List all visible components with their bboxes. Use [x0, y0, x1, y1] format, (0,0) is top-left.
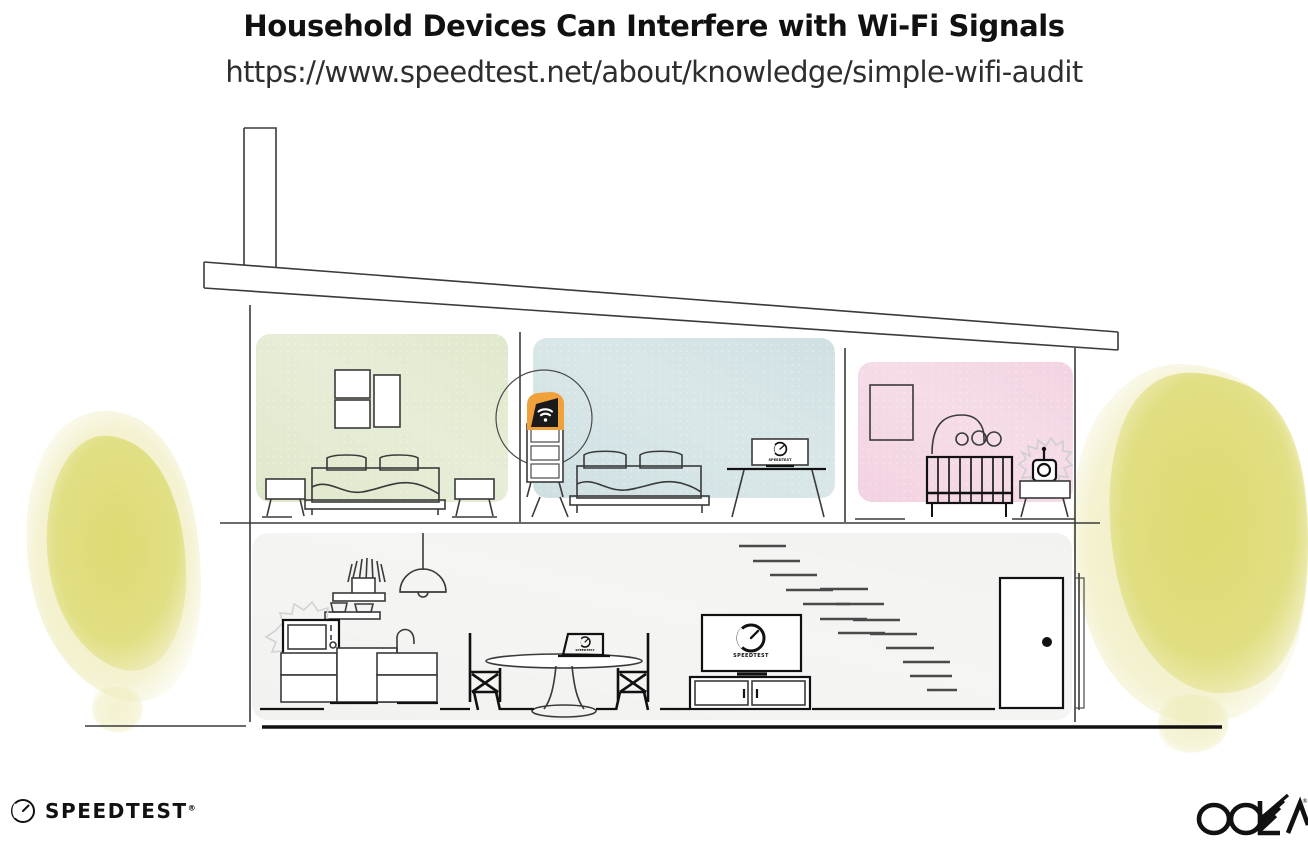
ookla-wordmark: ®: [1196, 793, 1308, 845]
room-ground-floor: SPEEDTEST SPEEDTEST: [252, 533, 1084, 720]
foliage-left: [26, 411, 201, 733]
monitor[interactable]: SPEEDTEST: [752, 439, 808, 466]
chimney: [244, 128, 276, 278]
door-knob[interactable]: [1042, 637, 1052, 647]
ookla-logo: ®: [1196, 793, 1308, 850]
kitchen-counter: [281, 648, 438, 703]
speedtest-label: SPEEDTEST: [45, 799, 188, 823]
nightstand-right: [455, 479, 494, 516]
room-nursery-pink: [855, 362, 1075, 519]
shelf-upper: [333, 593, 385, 601]
media-console: [690, 677, 810, 709]
illustration-page: Household Devices Can Interfere with Wi-…: [0, 0, 1308, 861]
wifi-router[interactable]: [527, 392, 564, 430]
nightstand-left: [266, 479, 305, 516]
speedtest-gauge-icon: [10, 798, 36, 824]
house-cutaway-illustration: SPEEDTEST: [0, 0, 1308, 780]
room-bedroom-blue: SPEEDTEST: [496, 338, 835, 517]
tv-screen-brand: SPEEDTEST: [733, 653, 769, 659]
speedtest-registered-mark: ®: [188, 803, 196, 812]
television[interactable]: SPEEDTEST: [702, 615, 801, 674]
ookla-registered-mark: ®: [1302, 798, 1308, 805]
monitor-screen-brand: SPEEDTEST: [768, 458, 792, 462]
room-bedroom-green: [256, 334, 508, 517]
speedtest-wordmark: SPEEDTEST®: [45, 799, 196, 823]
foliage-right: [1073, 364, 1308, 753]
front-door[interactable]: [1000, 578, 1063, 708]
speedtest-logo: SPEEDTEST®: [10, 798, 196, 824]
laptop-screen-brand: SPEEDTEST: [575, 648, 595, 652]
